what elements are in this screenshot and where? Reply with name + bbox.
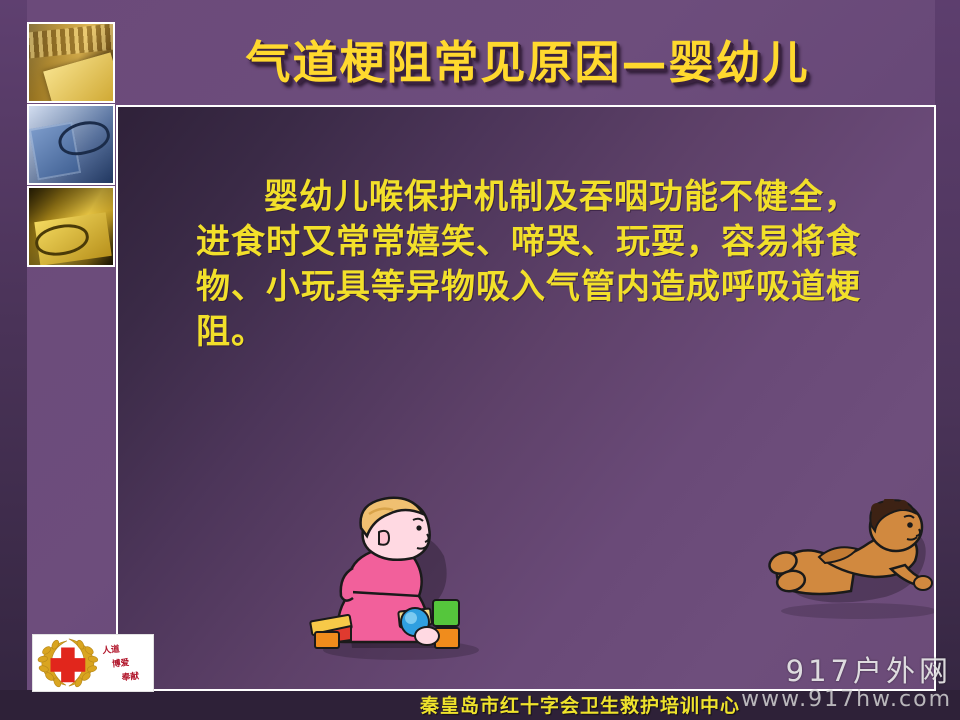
- slide-title-bar: 气道梗阻常见原因—婴幼儿: [120, 18, 935, 98]
- left-edge-strip: [0, 0, 27, 720]
- calculator-glasses-photo: [27, 104, 115, 185]
- logo-motto-line2: 博爱: [111, 656, 130, 670]
- keyboard-hands-photo: [27, 22, 115, 103]
- red-cross-logo-graphic: 人道 博爱 奉献: [33, 635, 153, 691]
- logo-motto-line3: 奉献: [120, 670, 140, 684]
- footer-caption: 秦皇岛市红十字会卫生救护培训中心: [0, 691, 960, 718]
- content-panel: 婴幼儿喉保护机制及吞咽功能不健全，进食时又常常嬉笑、啼哭、玩耍，容易将食物、小玩…: [116, 105, 936, 691]
- slide-canvas: 气道梗阻常见原因—婴幼儿 婴幼儿喉保护机制及吞咽功能不健全，进食时又常常嬉笑、啼…: [0, 0, 960, 720]
- logo-motto-line1: 人道: [102, 643, 121, 657]
- decorative-photo-column: [27, 22, 115, 267]
- body-paragraph: 婴幼儿喉保护机制及吞咽功能不健全，进食时又常常嬉笑、啼哭、玩耍，容易将食物、小玩…: [196, 175, 876, 355]
- page-title: 气道梗阻常见原因—婴幼儿: [245, 26, 809, 91]
- baby-lying-illustration: [763, 499, 936, 624]
- baby-sitting-with-blocks: [293, 492, 493, 662]
- right-edge-strip: [935, 0, 960, 720]
- baby-lying-prone: [763, 499, 936, 624]
- red-cross-logo: 人道 博爱 奉献: [32, 634, 154, 692]
- notepad-glasses-photo: [27, 186, 115, 267]
- baby-sitting-illustration: [293, 492, 493, 662]
